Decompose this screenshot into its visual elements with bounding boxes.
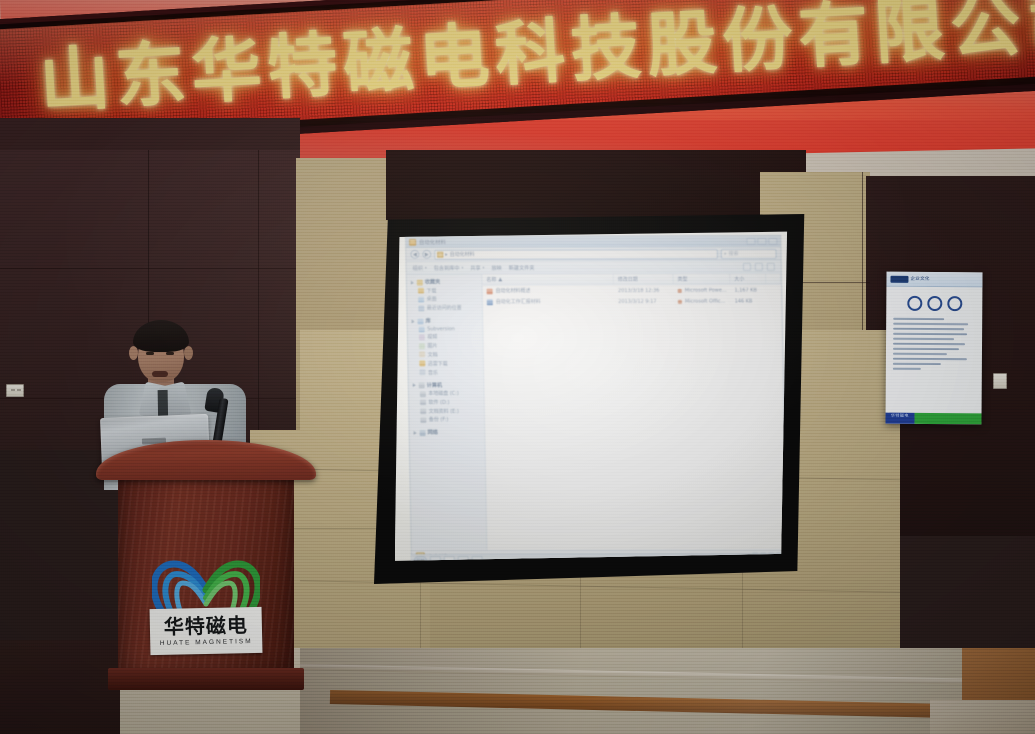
search-icon: ⌕	[723, 251, 726, 257]
explorer-navigation-pane[interactable]: 收藏夹 下载 桌面	[406, 275, 487, 551]
file-date-cell: 2013/3/18 12:36	[614, 287, 674, 293]
toolbar-item-slideshow[interactable]: 放映	[491, 264, 501, 271]
nav-item-label: 软件 (D:)	[428, 399, 449, 406]
wall-switch-plate	[993, 373, 1007, 389]
floor-shading	[300, 648, 1035, 734]
toolbar-item-include-in-library[interactable]: 包含到库中 ▾	[433, 264, 463, 271]
column-header-type[interactable]: 类型	[673, 274, 730, 284]
video-icon	[419, 334, 425, 340]
forward-button[interactable]: ▶	[422, 250, 431, 259]
file-size-cell: 146 KB	[730, 298, 766, 304]
toolbar-label: 放映	[491, 264, 501, 271]
nav-item-thunder-downloads[interactable]: 迅雷下载	[412, 360, 483, 367]
nav-group-computer: 计算机 本地磁盘 (C:) 软件 (D:)	[412, 382, 483, 424]
nav-item-disk-e[interactable]: 文档资料 (E:)	[413, 408, 484, 415]
explorer-navigation-bar[interactable]: ◀ ▶ ▸ 自动化材料 ⌕ 搜索	[406, 247, 780, 262]
file-name: 自动化工作汇报材料	[495, 298, 540, 305]
folder-icon	[409, 238, 416, 245]
toolbar-label: 包含到库中	[433, 264, 459, 271]
nav-group-header[interactable]: 网络	[413, 429, 484, 436]
download-icon	[418, 288, 424, 294]
minimize-button[interactable]	[746, 238, 755, 245]
column-label: 大小	[734, 275, 744, 282]
projection-screen: 自动化材料 ◀ ▶ ▸ 自动化材料	[374, 214, 806, 584]
podium-top	[96, 440, 316, 480]
office-type-icon	[678, 299, 682, 303]
nav-item-label: 桌面	[426, 296, 436, 303]
nav-item-downloads[interactable]: 下载	[411, 287, 482, 294]
huate-logo-english: HUATE MAGNETISM	[160, 638, 253, 647]
search-input[interactable]: ⌕ 搜索	[720, 248, 776, 258]
file-name-cell[interactable]: 自动化材料概述	[482, 287, 613, 294]
favorites-star-icon	[416, 279, 422, 285]
file-type-cell: Microsoft Offic...	[674, 298, 731, 304]
toolbar-item-new-folder[interactable]: 新建文件夹	[508, 264, 534, 271]
nav-item-subversion[interactable]: Subversion	[411, 326, 482, 332]
wall-panel-dark-center	[386, 150, 806, 220]
word-file-icon	[487, 299, 493, 305]
nav-group-label: 计算机	[426, 382, 442, 389]
nav-item-recent-places[interactable]: 最近访问的位置	[411, 305, 482, 312]
file-type-cell: Microsoft Powe...	[673, 287, 730, 293]
circle-3-icon	[947, 296, 962, 311]
music-icon	[419, 369, 425, 375]
projection-screen-surface: 自动化材料 ◀ ▶ ▸ 自动化材料	[395, 231, 788, 562]
chevron-down-icon: ▾	[461, 266, 463, 270]
nav-item-label: Subversion	[427, 326, 455, 332]
nav-item-pictures[interactable]: 图片	[412, 342, 483, 349]
maximize-button[interactable]	[757, 238, 766, 245]
chevron-down-icon: ▾	[425, 266, 427, 270]
chevron-down-icon: ▾	[482, 266, 484, 270]
nav-item-desktop[interactable]: 桌面	[411, 296, 482, 303]
sort-ascending-icon: ▲	[498, 276, 502, 282]
toolbar-item-share[interactable]: 共享 ▾	[470, 264, 484, 271]
library-icon	[417, 318, 423, 324]
library-icon	[418, 326, 424, 332]
column-label: 类型	[677, 276, 687, 283]
address-value: 自动化材料	[449, 251, 474, 258]
file-size-cell: 1,167 KB	[730, 287, 766, 293]
disk-icon	[420, 417, 426, 423]
poster-header: 企业文化	[886, 272, 982, 288]
file-date-cell: 2013/3/12 9:17	[614, 298, 674, 304]
chevron-right-icon	[411, 319, 414, 323]
recent-icon	[418, 305, 424, 311]
nav-group-favorites: 收藏夹 下载 桌面	[411, 279, 482, 312]
poster-logo-icon	[890, 275, 908, 282]
toolbar-label: 组织	[412, 264, 422, 271]
column-label: 修改日期	[617, 276, 637, 283]
view-layout-icon[interactable]	[743, 263, 751, 271]
toolbar-item-organize[interactable]: 组织 ▾	[412, 264, 426, 271]
podium-base	[108, 668, 304, 690]
nav-group-network: 网络	[413, 429, 484, 436]
view-preview-icon[interactable]	[755, 263, 763, 271]
nav-item-disk-d[interactable]: 软件 (D:)	[413, 399, 484, 406]
huate-logo: 华特磁电 HUATE MAGNETISM	[144, 556, 268, 664]
poster-footer-text: 华特磁电	[886, 413, 915, 419]
podium: 华特磁电 HUATE MAGNETISM	[96, 440, 316, 700]
file-name: 自动化材料概述	[495, 287, 530, 294]
office-type-icon	[677, 288, 681, 292]
nav-item-documents[interactable]: 文档	[412, 351, 483, 358]
poster-footer-green-bar	[914, 413, 981, 424]
desktop-icon	[418, 296, 424, 302]
ear-right	[184, 346, 193, 360]
nav-item-label: 迅雷下载	[427, 360, 447, 367]
explorer-toolbar[interactable]: 组织 ▾ 包含到库中 ▾ 共享 ▾ 放映	[406, 261, 780, 275]
eye-right	[166, 352, 174, 355]
explorer-window-title: 自动化材料	[419, 238, 446, 245]
address-separator: ▸	[445, 251, 448, 257]
poster-header-text: 企业文化	[910, 276, 929, 282]
huate-logo-chinese: 华特磁电	[164, 615, 248, 637]
nav-item-label: 音乐	[428, 369, 438, 376]
nav-item-disk-f[interactable]: 备份 (F:)	[413, 416, 484, 423]
huate-logo-plate: 华特磁电 HUATE MAGNETISM	[150, 607, 263, 655]
nav-item-label: 视频	[427, 334, 437, 341]
table-row[interactable]: 自动化工作汇报材料 2013/3/12 9:17 Microsoft Offic…	[483, 296, 782, 308]
column-header-spacer	[766, 274, 781, 284]
computer-icon	[418, 382, 424, 388]
column-label: 名称	[486, 276, 496, 283]
download-icon	[419, 361, 425, 367]
nav-item-label: 文档	[427, 351, 437, 358]
eye-left	[146, 352, 154, 355]
powerpoint-file-icon	[486, 288, 492, 294]
nav-item-music[interactable]: 音乐	[412, 369, 483, 376]
explorer-window[interactable]: 自动化材料 ◀ ▶ ▸ 自动化材料	[405, 235, 787, 562]
address-bar[interactable]: ▸ 自动化材料	[434, 249, 718, 260]
nav-item-label: 下载	[426, 287, 436, 294]
disk-icon	[420, 391, 426, 397]
circle-1-icon	[907, 296, 922, 311]
nav-group-label: 库	[425, 318, 430, 325]
close-button[interactable]	[768, 237, 777, 244]
chevron-right-icon	[411, 280, 414, 284]
conference-room-photo: 山东华特磁电科技股份有限公司精益	[0, 0, 1035, 734]
nav-group-header[interactable]: 库	[411, 317, 482, 324]
speaker-mouth	[152, 371, 168, 377]
toolbar-label: 新建文件夹	[508, 264, 534, 271]
file-list-header[interactable]: 名称 ▲ 修改日期 类型 大小	[482, 274, 781, 286]
back-button[interactable]: ◀	[410, 250, 419, 259]
nav-group-header[interactable]: 收藏夹	[411, 279, 482, 286]
help-icon[interactable]	[767, 263, 775, 271]
nav-group-label: 网络	[427, 429, 437, 436]
file-name-cell[interactable]: 自动化工作汇报材料	[483, 298, 614, 305]
document-icon	[419, 352, 425, 358]
table-row[interactable]: 自动化材料概述 2013/3/18 12:36 Microsoft Powe..…	[482, 285, 781, 297]
search-placeholder: 搜索	[728, 250, 738, 257]
chevron-right-icon	[413, 431, 416, 435]
nav-group-label: 收藏夹	[424, 279, 440, 286]
nav-item-label: 文档资料 (E:)	[428, 408, 458, 415]
nav-item-local-disk-c[interactable]: 本地磁盘 (C:)	[413, 390, 484, 397]
speaker-hair	[133, 320, 189, 352]
nav-item-videos[interactable]: 视频	[412, 334, 483, 341]
nav-item-label: 最近访问的位置	[426, 305, 461, 312]
nav-group-header[interactable]: 计算机	[412, 382, 483, 389]
poster-circle-group	[886, 296, 982, 312]
disk-icon	[420, 408, 426, 414]
column-header-date-modified[interactable]: 修改日期	[613, 274, 673, 284]
circle-2-icon	[927, 296, 942, 311]
nav-item-label: 图片	[427, 343, 437, 350]
poster-body-text	[886, 318, 982, 371]
disk-icon	[420, 399, 426, 405]
nav-item-label: 备份 (F:)	[428, 416, 448, 423]
nav-group-libraries: 库 Subversion 视频	[411, 317, 483, 375]
wall-outlet-plate	[6, 384, 24, 397]
wall-poster: 企业文化 华特磁电	[885, 272, 982, 425]
nav-item-label: 本地磁盘 (C:)	[428, 390, 459, 397]
toolbar-label: 共享	[470, 264, 480, 271]
picture-icon	[419, 343, 425, 349]
column-header-size[interactable]: 大小	[730, 274, 766, 284]
folder-icon	[437, 251, 443, 257]
network-icon	[419, 430, 425, 436]
poster-footer: 华特磁电	[885, 413, 981, 425]
explorer-file-list[interactable]: 名称 ▲ 修改日期 类型 大小	[482, 274, 786, 550]
column-header-name[interactable]: 名称 ▲	[482, 274, 614, 284]
chevron-right-icon	[412, 383, 415, 387]
